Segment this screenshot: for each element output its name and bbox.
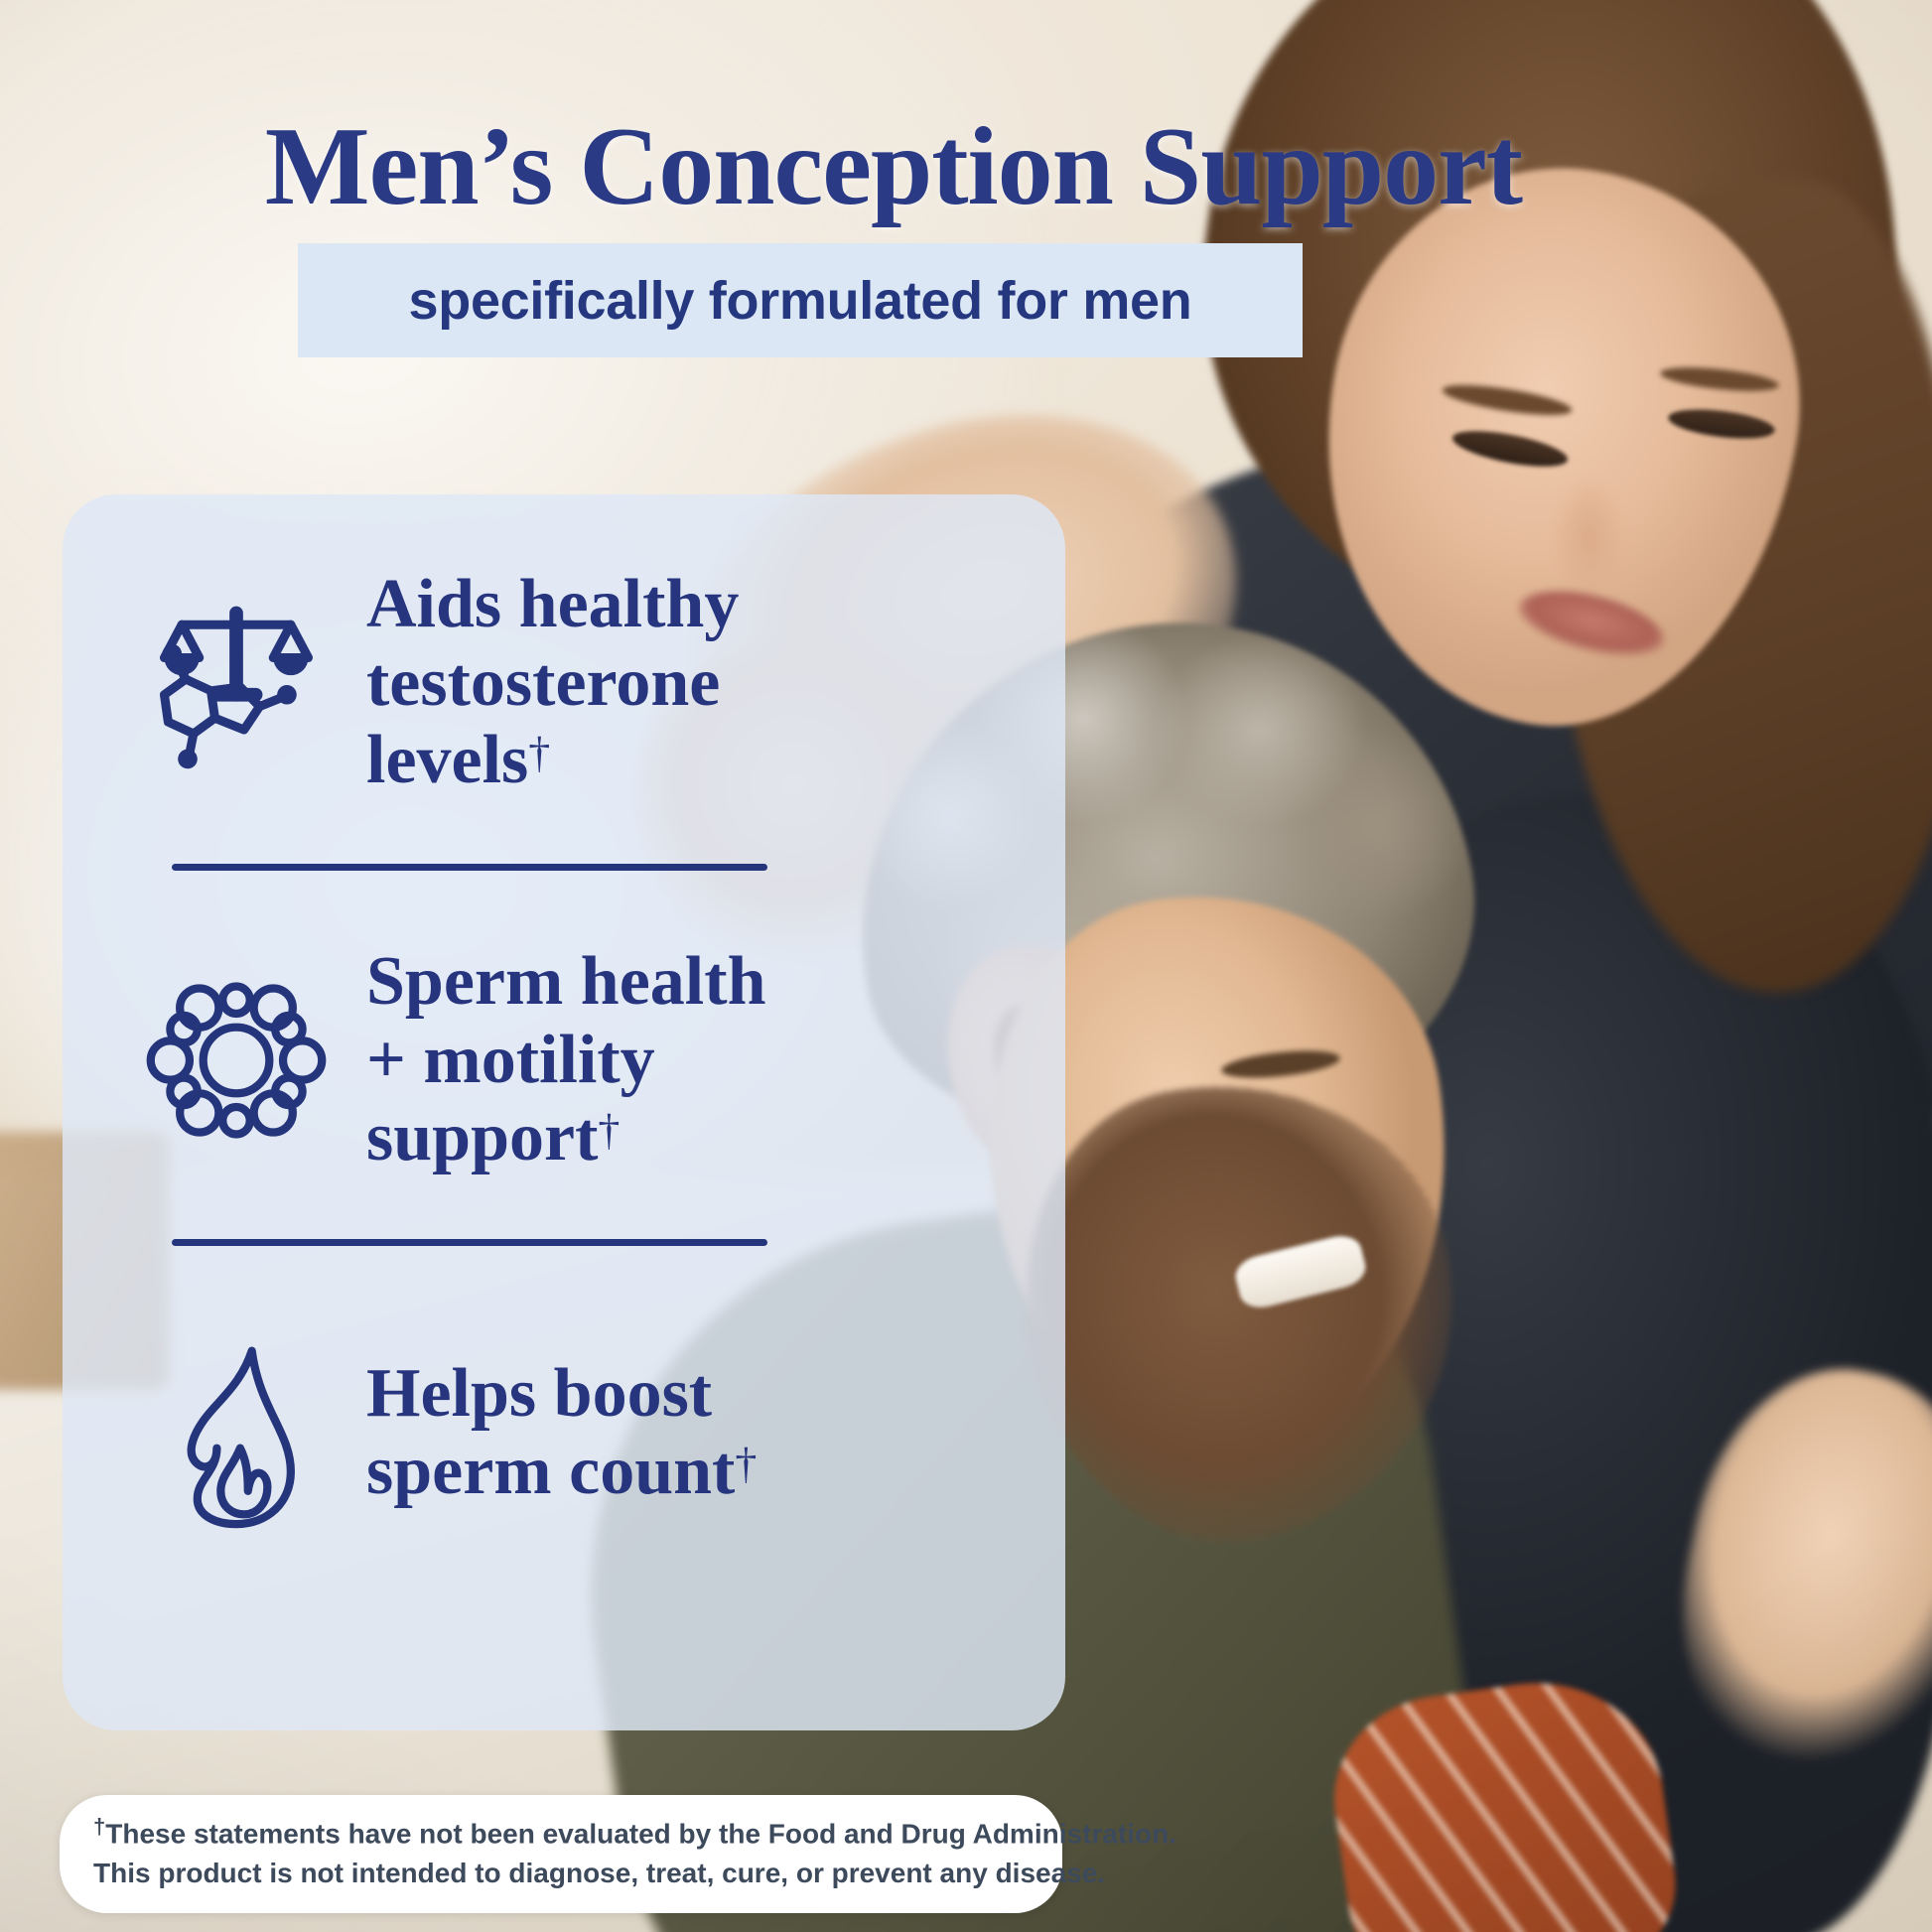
flame-icon [122,1335,350,1530]
benefit-label-sperm-health: Sperm health + motility support† [366,943,766,1176]
footnote-marker: † [735,1440,757,1488]
benefit-item-testosterone: Aids healthy testosterone levels† [63,514,1065,852]
page-title: Men’s Conception Support [0,109,1787,224]
footnote-marker: † [598,1106,620,1155]
benefit-line-1: Aids healthy [366,566,739,642]
subtitle-text: specifically formulated for men [409,270,1192,332]
benefit-line-2: sperm count [366,1433,735,1509]
footnote-marker: † [528,729,550,777]
benefit-line-1: Sperm health [366,943,766,1020]
benefit-label-sperm-count: Helps boost sperm count† [366,1355,757,1511]
benefit-line-3: levels [366,722,528,798]
fda-disclaimer: †These statements have not been evaluate… [60,1795,1062,1913]
promotional-graphic: Men’s Conception Support specifically fo… [0,0,1932,1932]
subtitle-banner: specifically formulated for men [298,243,1303,357]
benefit-line-3: support [366,1099,598,1175]
disclaimer-line-1: †These statements have not been evaluate… [93,1811,1029,1854]
benefit-line-2: + motility [366,1022,655,1098]
benefit-item-sperm-count: Helps boost sperm count† [63,1264,1065,1601]
disclaimer-line-1-text: These statements have not been evaluated… [105,1818,1176,1849]
benefit-divider-2 [172,1239,767,1246]
disclaimer-marker: † [93,1814,105,1839]
benefit-label-testosterone: Aids healthy testosterone levels† [366,566,739,799]
benefits-card: Aids healthy testosterone levels† [63,494,1065,1730]
ovum-sperm-cells-icon [122,963,350,1158]
benefit-line-2: testosterone [366,644,720,721]
benefit-divider-1 [172,864,767,871]
disclaimer-line-2: This product is not intended to diagnose… [93,1854,1029,1893]
benefit-line-1: Helps boost [366,1355,712,1432]
benefit-item-sperm-health: Sperm health + motility support† [63,892,1065,1229]
balance-scale-molecule-icon [122,586,350,780]
